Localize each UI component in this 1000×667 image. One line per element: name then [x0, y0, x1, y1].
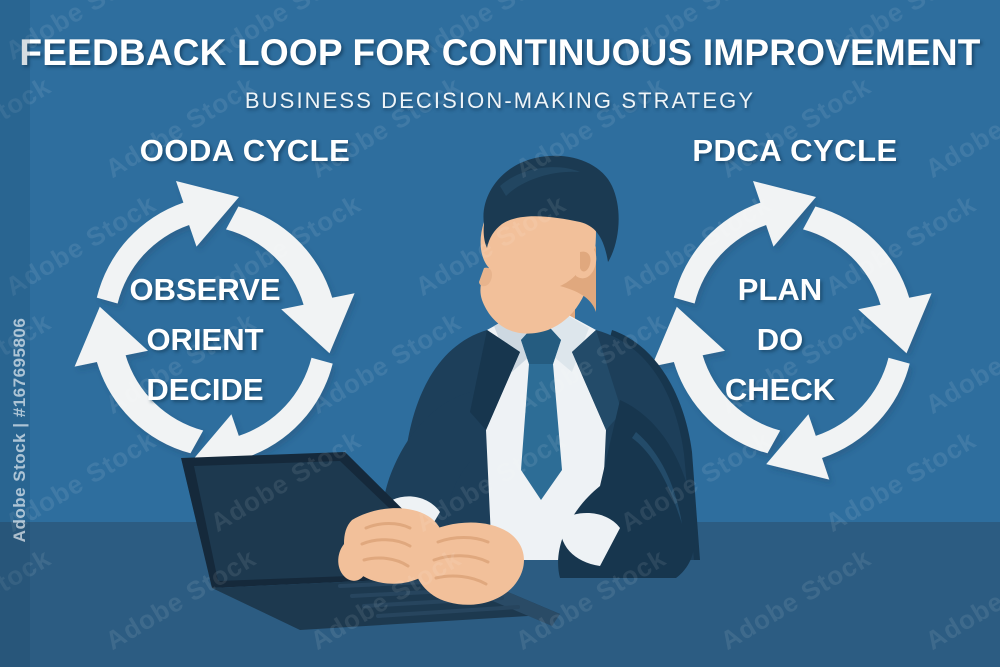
- pdca-cycle-heading: PDCA CYCLE: [595, 133, 995, 169]
- page-subtitle: BUSINESS DECISION-MAKING STRATEGY: [0, 88, 1000, 114]
- page-title: FEEDBACK LOOP FOR CONTINUOUS IMPROVEMENT: [0, 32, 1000, 74]
- pdca-arrow-top: [674, 181, 816, 304]
- poster-canvas: FEEDBACK LOOP FOR CONTINUOUS IMPROVEMENT…: [0, 0, 1000, 667]
- pdca-arrow-bottom: [766, 358, 910, 480]
- pdca-cycle-arrows: [652, 181, 932, 480]
- ooda-cycle-heading: OODA CYCLE: [45, 133, 445, 169]
- ooda-arrow-right: [226, 207, 355, 354]
- pdca-arrow-right: [803, 207, 932, 354]
- ooda-arrow-left: [75, 307, 204, 454]
- ooda-cycle-arrows: [75, 181, 355, 480]
- watermark-sidebar-band: [0, 0, 30, 667]
- ooda-arrow-top: [97, 181, 239, 304]
